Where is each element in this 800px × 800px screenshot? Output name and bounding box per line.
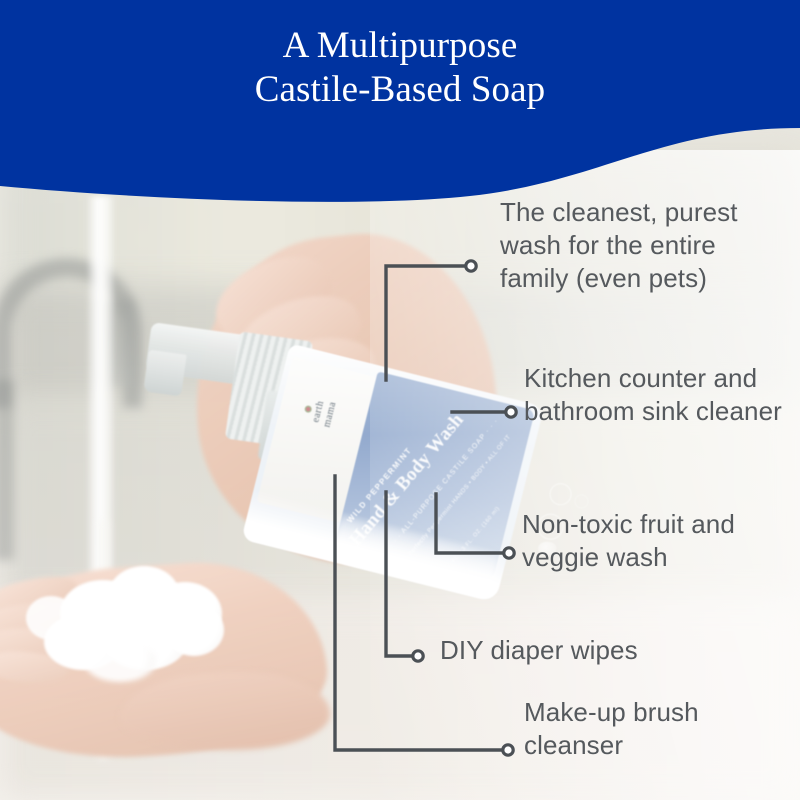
callout-fruit-veggie-wash: Non-toxic fruit and veggie wash [522,508,790,574]
callout-makeup-brush-cleanser: Make-up brush cleanser [524,696,790,762]
leader-endpoint-1 [466,261,476,271]
page-title-line1: A Multipurpose [283,25,518,66]
callout-diy-diaper-wipes: DIY diaper wipes [440,634,790,667]
page-title-line2: Castile-Based Soap [0,68,800,112]
leader-line-3 [436,494,506,553]
infographic-canvas: earth mama WILD PEPPERMINT Hand & Body W… [0,0,800,800]
leader-line-1 [386,266,468,380]
leader-endpoint-5 [503,745,513,755]
leader-endpoint-3 [504,548,514,558]
callout-cleanest-purest-wash: The cleanest, purest wash for the entire… [500,196,790,294]
leader-line-4 [386,492,414,656]
leader-endpoint-4 [413,651,423,661]
leader-endpoint-2 [506,407,516,417]
callout-kitchen-bathroom-cleaner: Kitchen counter and bathroom sink cleane… [524,362,790,428]
leader-line-5 [335,476,504,750]
page-title: A Multipurpose Castile-Based Soap [0,24,800,113]
